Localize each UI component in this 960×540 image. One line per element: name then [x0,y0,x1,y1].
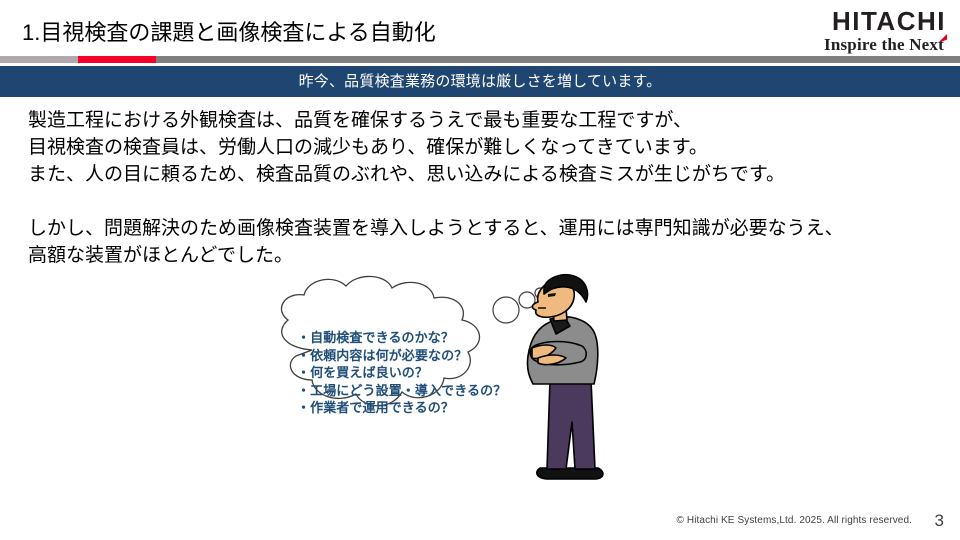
bubble-line-2: ・依頼内容は何が必要なの？ [297,347,506,365]
accent-bar-segment-gray-pink [0,56,78,63]
accent-bar-segment-red [78,56,156,63]
section-banner-text: 昨今、品質検査業務の環境は厳しさを増しています。 [299,72,662,92]
hitachi-tagline-wrap: Inspire the Next [824,35,946,55]
paragraph-2: しかし、問題解決のため画像検査装置を導入しようとすると、運用には専門知識が必要な… [28,215,938,269]
paragraph-2-line-2: 高額な装置がほとんどでした。 [28,242,938,269]
copyright-notice: © Hitachi KE Systems,Ltd. 2025. All righ… [677,515,912,526]
bubble-line-3: ・何を買えば良いの？ [297,364,506,382]
person-trousers [547,380,595,469]
page-title: 1.目視検査の課題と画像検査による自動化 [22,18,436,48]
section-banner: 昨今、品質検査業務の環境は厳しさを増しています。 [0,66,960,97]
person-figure [527,275,602,479]
page-number: 3 [935,511,944,531]
hitachi-tagline: Inspire the Next [824,35,944,54]
paragraph-2-line-1: しかし、問題解決のため画像検査装置を導入しようとすると、運用には専門知識が必要な… [28,215,938,242]
thought-bubble-text: ・自動検査できるのかな？ ・依頼内容は何が必要なの？ ・何を買えば良いの？ ・工… [297,329,506,417]
title-accent-bar [0,56,960,63]
hitachi-wordmark: HITACHI [824,8,946,35]
paragraph-1-line-2: 目視検査の検査員は、労働人口の減少もあり、確保が難しくなってきています。 [28,134,938,161]
paragraph-1-line-3: また、人の目に頼るため、検査品質のぶれや、思い込みによる検査ミスが生じがちです。 [28,161,938,188]
bubble-line-4: ・工場にどう設置・導入できるの？ [297,382,506,400]
bubble-line-1: ・自動検査できるのかな？ [297,329,506,347]
body-copy: 製造工程における外観検査は、品質を確保するうえで最も重要な工程ですが、 目視検査… [28,107,938,269]
bubble-line-5: ・作業者で運用できるの？ [297,399,506,417]
accent-bar-segment-gray [156,56,960,63]
paragraph-1-line-1: 製造工程における外観検査は、品質を確保するうえで最も重要な工程ですが、 [28,107,938,134]
paragraph-1: 製造工程における外観検査は、品質を確保するうえで最も重要な工程ですが、 目視検査… [28,107,938,188]
hitachi-logo: HITACHI Inspire the Next [824,8,946,55]
